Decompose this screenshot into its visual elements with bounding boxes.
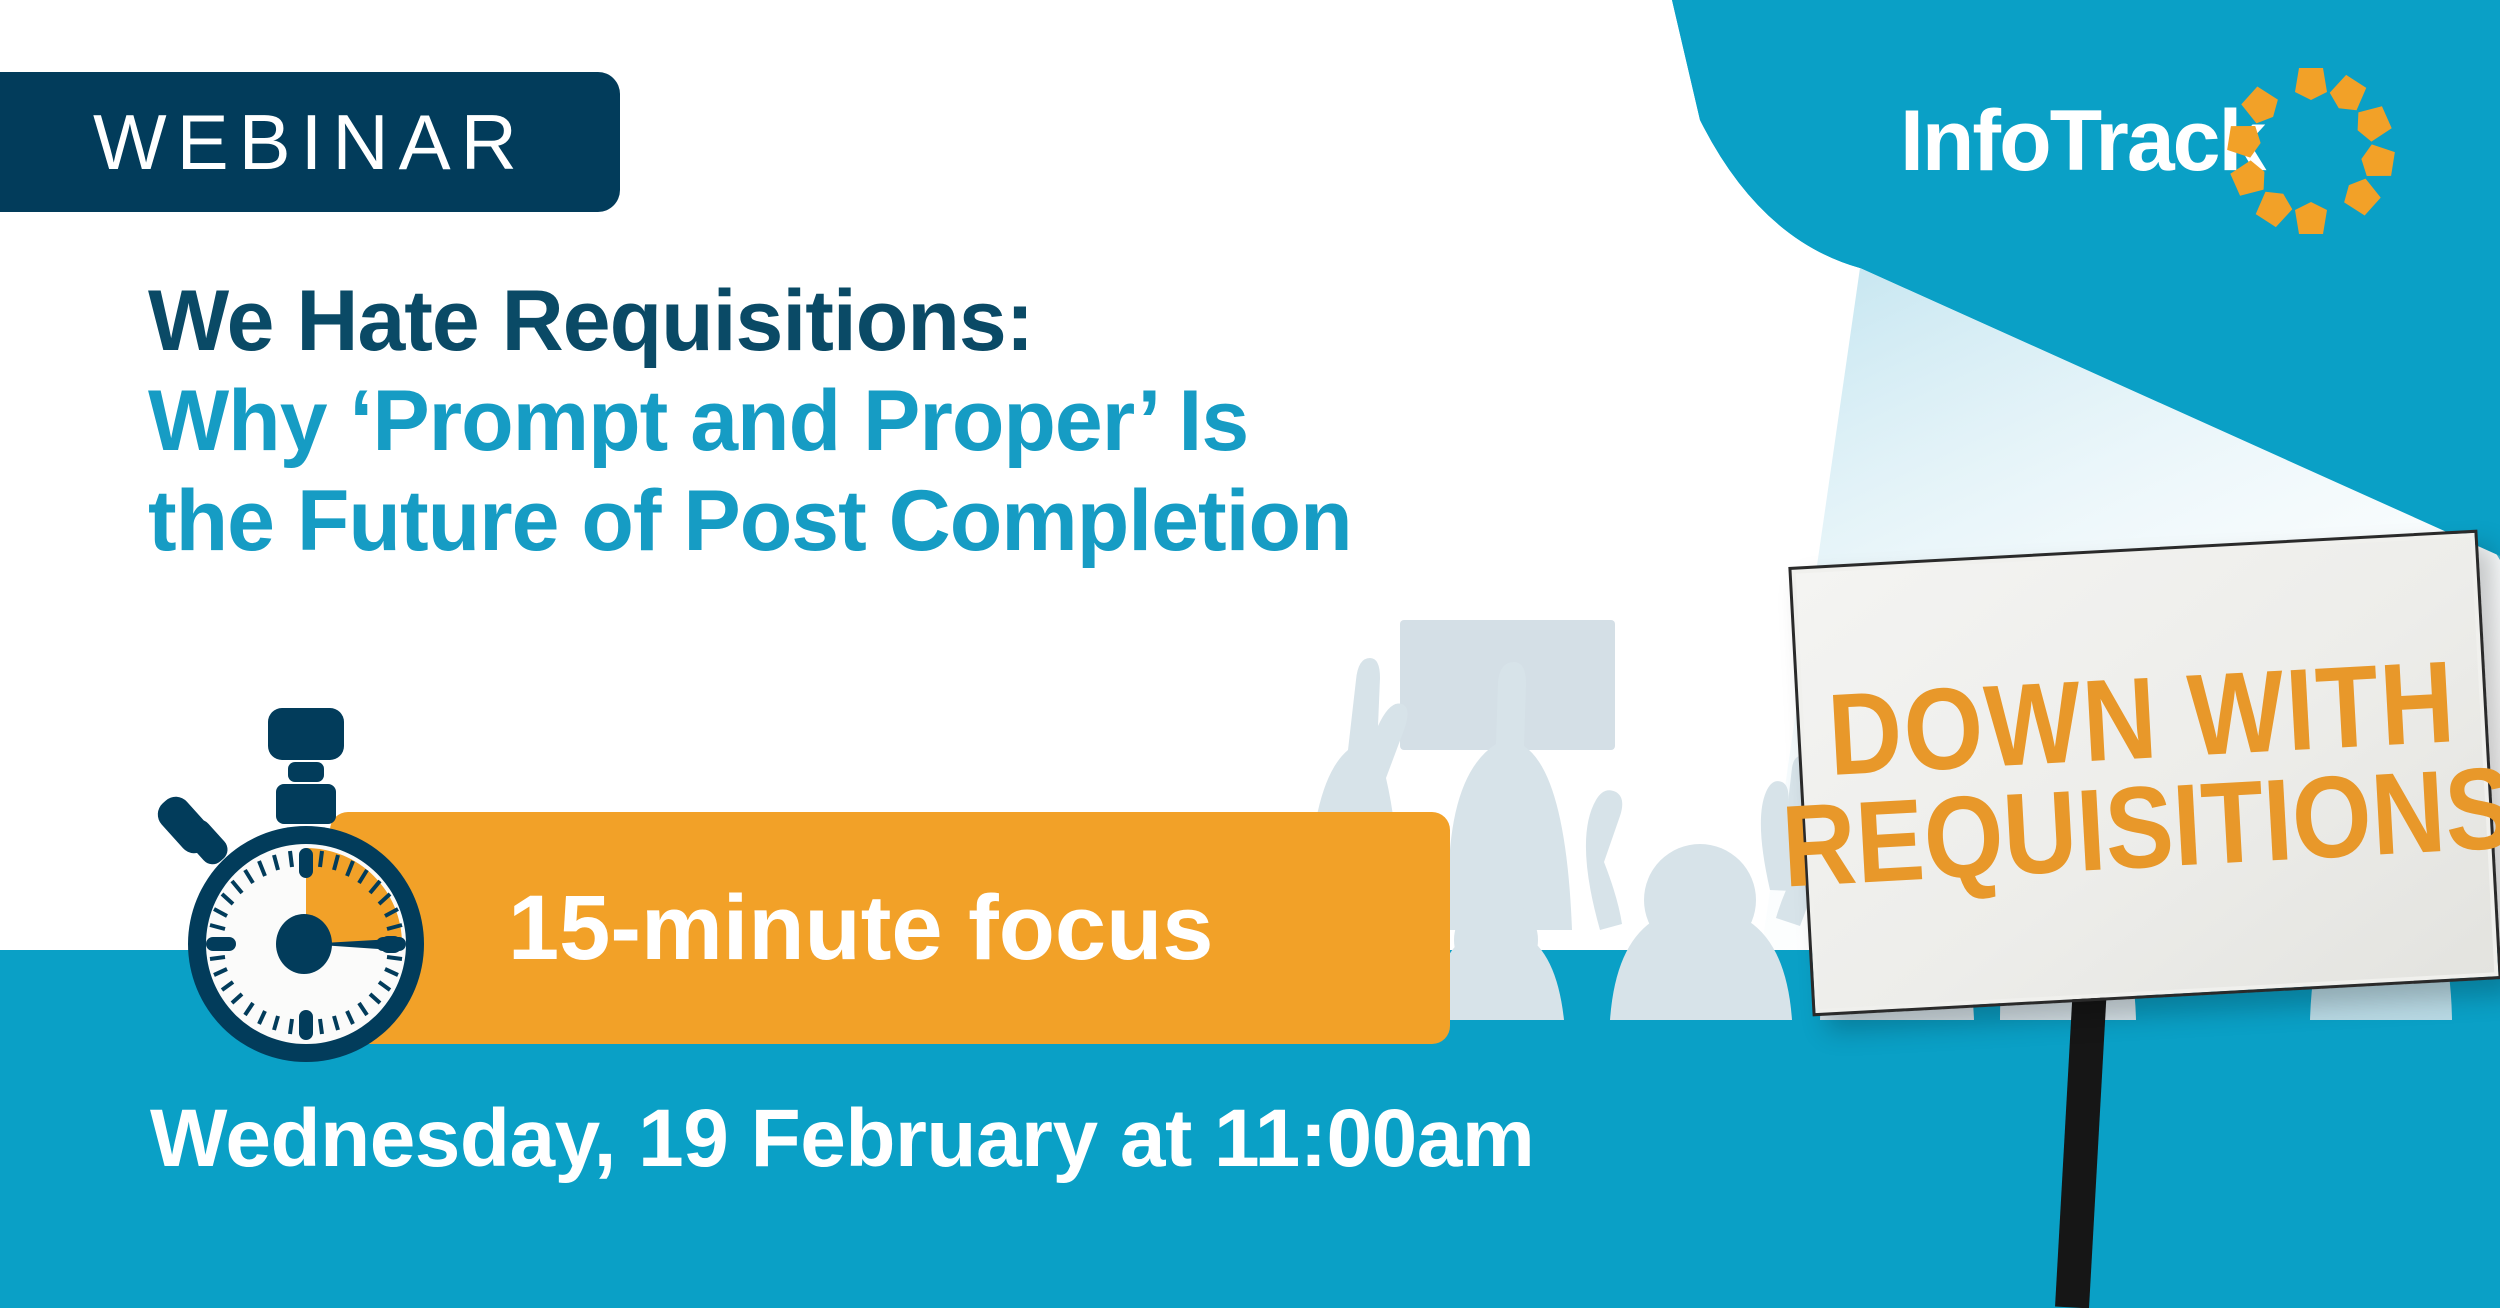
- webinar-promo-poster: WEBINAR We Hate Requisitions: Why ‘Promp…: [0, 0, 2500, 1308]
- webinar-badge-label: WEBINAR: [93, 103, 527, 181]
- infotrack-wordmark: InfoTrack: [1900, 98, 2264, 184]
- focus-badge: 15-minute focus: [330, 812, 1450, 1044]
- headline-line-2: Why ‘Prompt and Proper’ Is: [148, 372, 1748, 472]
- infotrack-ring-icon: [2222, 62, 2400, 240]
- webinar-badge: WEBINAR: [0, 72, 620, 212]
- protest-sign-panel: DOWN WITH REQUISITIONS: [1788, 530, 2500, 1017]
- focus-badge-label: 15-minute focus: [508, 882, 1213, 974]
- protest-sign-line-2: REQUISITIONS: [1780, 753, 2500, 901]
- stopwatch-icon: [140, 706, 470, 1066]
- infotrack-logo: InfoTrack: [1900, 60, 2400, 240]
- headline-line-3: the Future of Post Completion: [148, 472, 1748, 572]
- headline-block: We Hate Requisitions: Why ‘Prompt and Pr…: [148, 272, 1748, 571]
- schedule-date-time: Wednesday, 19 February at 11:00am: [150, 1098, 1534, 1180]
- headline-line-1: We Hate Requisitions:: [148, 272, 1748, 372]
